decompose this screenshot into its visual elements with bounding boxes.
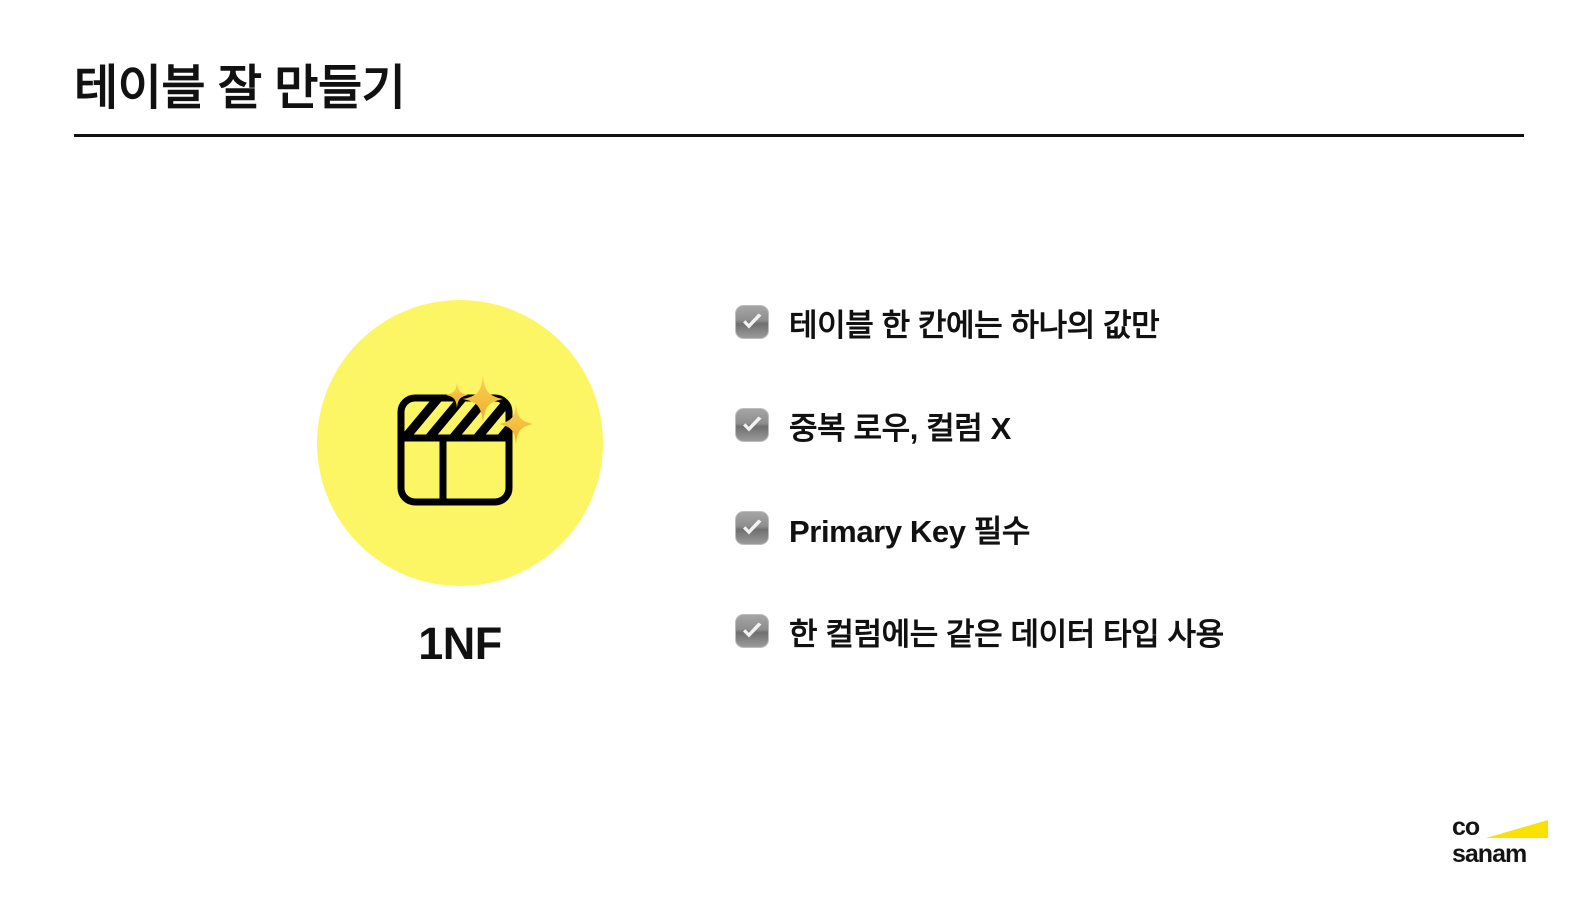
slide-root: 테이블 잘 만들기 — [0, 0, 1576, 904]
list-item-label: Primary Key 필수 — [769, 506, 1030, 551]
list-item-label: 테이블 한 칸에는 하나의 값만 — [769, 300, 1159, 345]
logo-accent-wedge — [1486, 820, 1548, 838]
logo-line1: co — [1452, 813, 1480, 841]
title-divider — [74, 134, 1524, 137]
badge-circle — [317, 300, 603, 586]
list-item: 한 컬럼에는 같은 데이터 타입 사용 — [735, 605, 1495, 657]
list-item-label: 한 컬럼에는 같은 데이터 타입 사용 — [769, 609, 1224, 654]
list-item: Primary Key 필수 — [735, 502, 1495, 554]
checkbox-checked-icon[interactable] — [735, 305, 769, 339]
checkbox-checked-icon[interactable] — [735, 511, 769, 545]
rules-checklist: 테이블 한 칸에는 하나의 값만 중복 로우, 컬럼 X Primary Key… — [735, 296, 1495, 657]
normal-form-badge: 1NF — [317, 300, 603, 670]
cosanam-logo-icon: co sanam — [1452, 812, 1548, 868]
list-item: 테이블 한 칸에는 하나의 값만 — [735, 296, 1495, 348]
checkbox-checked-icon[interactable] — [735, 408, 769, 442]
list-item-label: 중복 로우, 컬럼 X — [769, 403, 1011, 448]
page-title: 테이블 잘 만들기 — [74, 62, 1524, 116]
checkbox-checked-icon[interactable] — [735, 614, 769, 648]
badge-caption: 1NF — [317, 586, 603, 670]
title-block: 테이블 잘 만들기 — [74, 62, 1524, 116]
brand-logo: co sanam — [1452, 812, 1548, 868]
table-sparkle-icon — [389, 370, 537, 518]
logo-line2: sanam — [1452, 840, 1526, 868]
list-item: 중복 로우, 컬럼 X — [735, 399, 1495, 451]
